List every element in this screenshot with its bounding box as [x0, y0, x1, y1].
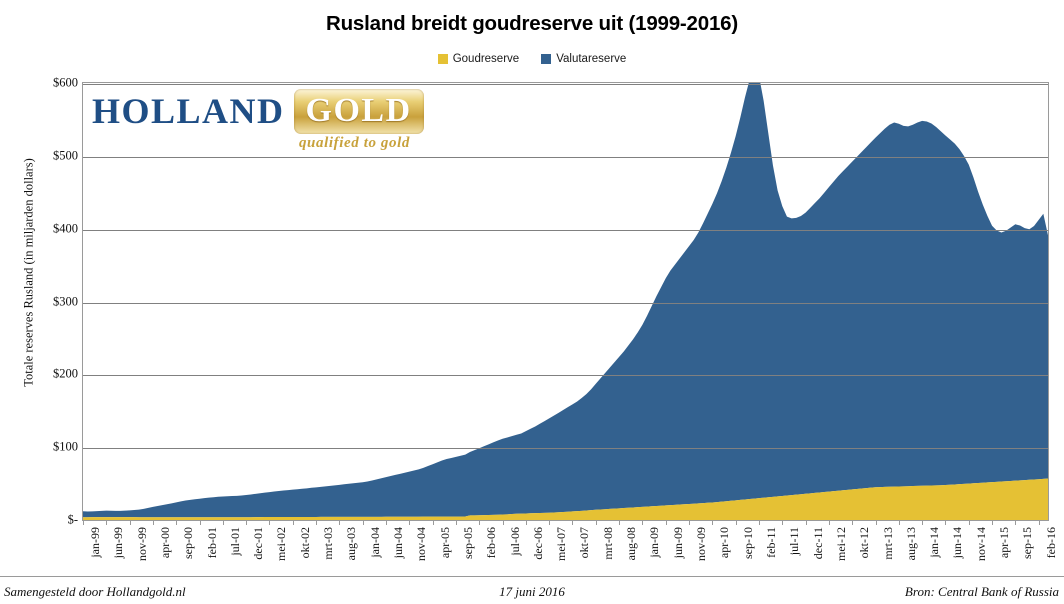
x-tick-aug-08: aug-08 — [624, 527, 639, 560]
x-tick-feb-16: feb-16 — [1044, 527, 1059, 558]
x-tick-nov-99: nov-99 — [135, 527, 150, 561]
x-tick-sep-05: sep-05 — [461, 527, 476, 559]
hollandgold-logo: HOLLAND GOLD qualified to gold — [92, 88, 410, 154]
x-tickmark-okt-07 — [572, 521, 573, 525]
x-tickmark-apr-00 — [153, 521, 154, 525]
x-tickmark-mrt-08 — [596, 521, 597, 525]
x-tickmark-dec-06 — [526, 521, 527, 525]
x-tickmark-jul-11 — [782, 521, 783, 525]
x-tickmark-feb-11 — [759, 521, 760, 525]
logo-tagline: qualified to gold — [92, 135, 410, 152]
x-tickmark-jun-99 — [106, 521, 107, 525]
legend-label-valutareserve: Valutareserve — [556, 53, 626, 65]
y-tick-500: $500 — [6, 148, 78, 163]
x-tickmark-okt-12 — [852, 521, 853, 525]
x-tick-sep-10: sep-10 — [741, 527, 756, 559]
footer-divider — [0, 576, 1064, 577]
x-tickmark-sep-05 — [456, 521, 457, 525]
x-tickmark-mei-02 — [269, 521, 270, 525]
x-tickmark-sep-15 — [1015, 521, 1016, 525]
logo-gold-badge: GOLD — [294, 89, 424, 134]
x-tickmark-jan-09 — [642, 521, 643, 525]
x-tick-jun-04: jun-04 — [391, 527, 406, 558]
x-tick-apr-15: apr-15 — [997, 527, 1012, 558]
footer-source: Bron: Central Bank of Russia — [905, 584, 1059, 600]
x-tick-aug-13: aug-13 — [904, 527, 919, 560]
x-tick-okt-02: okt-02 — [298, 527, 313, 558]
x-tick-mei-02: mei-02 — [274, 527, 289, 561]
x-tick-aug-03: aug-03 — [344, 527, 359, 560]
x-tick-jan-99: jan-99 — [88, 527, 103, 558]
x-tick-okt-07: okt-07 — [577, 527, 592, 558]
x-tickmark-mei-12 — [829, 521, 830, 525]
x-tickmark-feb-01 — [200, 521, 201, 525]
x-tick-apr-05: apr-05 — [438, 527, 453, 558]
x-tickmark-nov-14 — [969, 521, 970, 525]
x-tickmark-feb-16 — [1039, 521, 1040, 525]
x-tick-jun-99: jun-99 — [111, 527, 126, 558]
chart-footer: Samengesteld door Hollandgold.nl 17 juni… — [0, 580, 1064, 604]
legend-label-goudreserve: Goudreserve — [453, 53, 519, 65]
x-tick-jul-01: jul-01 — [228, 527, 243, 556]
gridline-300 — [83, 303, 1048, 304]
x-tickmark-dec-11 — [806, 521, 807, 525]
gridline-500 — [83, 157, 1048, 158]
legend-item-goudreserve[interactable]: Goudreserve — [438, 53, 519, 65]
x-tick-mei-12: mei-12 — [834, 527, 849, 561]
x-tickmark-jul-06 — [503, 521, 504, 525]
chart-legend: Goudreserve Valutareserve — [0, 53, 1064, 65]
x-tickmark-jan-14 — [922, 521, 923, 525]
x-tick-jan-09: jan-09 — [647, 527, 662, 558]
x-tick-nov-14: nov-14 — [974, 527, 989, 561]
x-tick-mei-07: mei-07 — [554, 527, 569, 561]
x-tickmark-mei-07 — [549, 521, 550, 525]
x-tick-dec-06: dec-06 — [531, 527, 546, 560]
x-tickmark-mrt-13 — [876, 521, 877, 525]
y-tick-400: $400 — [6, 221, 78, 236]
x-tick-dec-01: dec-01 — [251, 527, 266, 560]
y-tick-300: $300 — [6, 294, 78, 309]
x-tickmark-aug-03 — [339, 521, 340, 525]
x-tickmark-dec-01 — [246, 521, 247, 525]
x-tickmark-nov-99 — [130, 521, 131, 525]
x-tick-mrt-03: mrt-03 — [321, 527, 336, 560]
x-axis-tick-labels: jan-99jun-99nov-99apr-00sep-00feb-01jul-… — [0, 521, 1064, 581]
x-tickmark-aug-13 — [899, 521, 900, 525]
legend-swatch-goudreserve — [438, 54, 448, 64]
x-tick-jan-04: jan-04 — [368, 527, 383, 558]
x-tick-jan-14: jan-14 — [927, 527, 942, 558]
gridline-400 — [83, 230, 1048, 231]
x-tick-feb-06: feb-06 — [484, 527, 499, 558]
x-tick-nov-09: nov-09 — [694, 527, 709, 561]
x-tick-mrt-13: mrt-13 — [881, 527, 896, 560]
x-tickmark-jul-01 — [223, 521, 224, 525]
x-tickmark-apr-15 — [992, 521, 993, 525]
logo-text-holland: HOLLAND — [92, 88, 285, 134]
x-tick-nov-04: nov-04 — [414, 527, 429, 561]
x-tickmark-nov-09 — [689, 521, 690, 525]
x-tick-feb-01: feb-01 — [205, 527, 220, 558]
y-tick-100: $100 — [6, 440, 78, 455]
x-tickmark-mrt-03 — [316, 521, 317, 525]
gridline-100 — [83, 448, 1048, 449]
x-tickmark-jun-14 — [945, 521, 946, 525]
x-tickmark-apr-10 — [712, 521, 713, 525]
x-tickmark-sep-00 — [176, 521, 177, 525]
legend-item-valutareserve[interactable]: Valutareserve — [541, 53, 626, 65]
x-tickmark-jan-04 — [363, 521, 364, 525]
gridline-200 — [83, 375, 1048, 376]
x-tickmark-sep-10 — [736, 521, 737, 525]
y-tick-200: $200 — [6, 367, 78, 382]
x-tickmark-okt-02 — [293, 521, 294, 525]
x-tick-apr-10: apr-10 — [717, 527, 732, 558]
logo-text-gold: GOLD — [306, 92, 412, 129]
y-tick-600: $600 — [6, 76, 78, 91]
x-tick-dec-11: dec-11 — [811, 527, 826, 559]
x-tick-mrt-08: mrt-08 — [601, 527, 616, 560]
x-tick-sep-00: sep-00 — [181, 527, 196, 559]
x-tick-jul-06: jul-06 — [508, 527, 523, 556]
x-tickmark-jun-09 — [666, 521, 667, 525]
logo-wordmark: HOLLAND GOLD — [92, 88, 410, 134]
x-tick-jun-14: jun-14 — [950, 527, 965, 558]
gridline-600 — [83, 84, 1048, 85]
chart-title: Rusland breidt goudreserve uit (1999-201… — [0, 12, 1064, 36]
x-tick-jun-09: jun-09 — [671, 527, 686, 558]
x-tick-jul-11: jul-11 — [787, 527, 802, 555]
x-tickmark-aug-08 — [619, 521, 620, 525]
legend-swatch-valutareserve — [541, 54, 551, 64]
chart-container: Rusland breidt goudreserve uit (1999-201… — [0, 0, 1064, 604]
x-tick-okt-12: okt-12 — [857, 527, 872, 558]
x-tickmark-feb-06 — [479, 521, 480, 525]
x-tick-feb-11: feb-11 — [764, 527, 779, 558]
x-tickmark-apr-05 — [433, 521, 434, 525]
x-tickmark-jan-99 — [83, 521, 84, 525]
x-tick-apr-00: apr-00 — [158, 527, 173, 558]
x-tick-sep-15: sep-15 — [1020, 527, 1035, 559]
x-tickmark-nov-04 — [409, 521, 410, 525]
y-axis-tick-labels: $-$100$200$300$400$500$600 — [0, 0, 78, 604]
x-tickmark-jun-04 — [386, 521, 387, 525]
